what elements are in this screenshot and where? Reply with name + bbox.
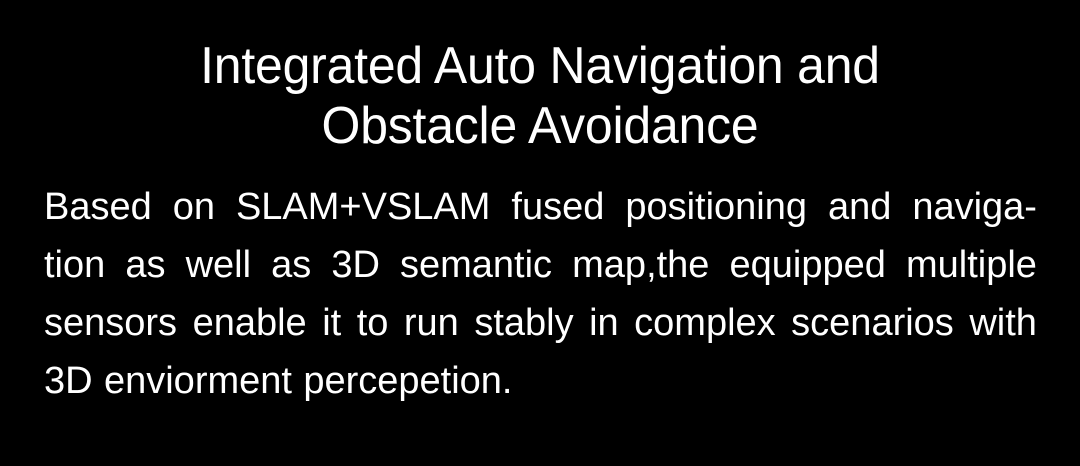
body-word: tion (44, 236, 105, 294)
body-line-2: tion as well as 3D semantic map,the equi… (44, 236, 1037, 294)
body-word: complex (634, 294, 776, 352)
slide-canvas: Integrated Auto Navigation and Obstacle … (0, 0, 1080, 466)
body-word: enviorment (104, 352, 292, 410)
body-word: to (357, 294, 389, 352)
body-word: fused (511, 178, 604, 236)
body-word: semantic (400, 236, 552, 294)
body-word: stably (474, 294, 573, 352)
body-word: well (186, 236, 251, 294)
title-line-2: Obstacle Avoidance (22, 96, 1059, 156)
body-word: as (125, 236, 165, 294)
body-word: enable (193, 294, 307, 352)
body-word: it (322, 294, 341, 352)
body-word: in (589, 294, 619, 352)
body-word: SLAM+VSLAM (236, 178, 491, 236)
body-word: map,the (572, 236, 709, 294)
body-word: equipped (730, 236, 886, 294)
body-word: 3D (331, 236, 380, 294)
body-word: on (173, 178, 215, 236)
body-word: scenarios (791, 294, 954, 352)
slide-body-paragraph: Based on SLAM+VSLAM fused positioning an… (44, 178, 1037, 410)
body-word: 3D (44, 352, 93, 410)
body-line-4: 3D enviorment percepetion. (44, 352, 1037, 410)
body-line-3: sensors enable it to run stably in compl… (44, 294, 1037, 352)
body-word: with (969, 294, 1037, 352)
body-word: multiple (906, 236, 1037, 294)
body-line-1: Based on SLAM+VSLAM fused positioning an… (44, 178, 1037, 236)
body-word: run (404, 294, 459, 352)
body-word: naviga- (912, 178, 1037, 236)
body-word: sensors (44, 294, 177, 352)
body-word: as (271, 236, 311, 294)
body-word: and (828, 178, 891, 236)
slide-title: Integrated Auto Navigation and Obstacle … (0, 36, 1080, 156)
body-word: percepetion. (303, 352, 512, 410)
title-line-1: Integrated Auto Navigation and (22, 36, 1059, 96)
body-word: positioning (625, 178, 807, 236)
body-word: Based (44, 178, 152, 236)
